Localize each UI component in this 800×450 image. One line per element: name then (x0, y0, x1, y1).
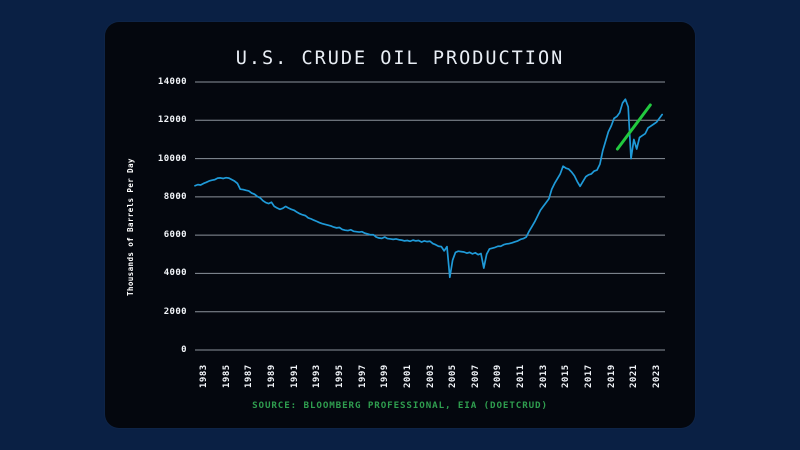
source-note: SOURCE: BLOOMBERG PROFESSIONAL, EIA (DOE… (105, 400, 695, 411)
y-axis-tick-label: 12000 (117, 115, 187, 125)
gridlines (195, 82, 665, 350)
screenshot-root: U.S. CRUDE OIL PRODUCTION 14000120001000… (0, 0, 800, 450)
x-axis-tick-label: 2003 (426, 364, 436, 388)
x-axis-tick-label: 2017 (584, 364, 594, 388)
x-axis-tick-label: 1985 (222, 364, 232, 388)
x-axis-tick-label: 1987 (244, 364, 254, 388)
x-axis-tick-label: 2001 (403, 364, 413, 388)
x-axis-tick-label: 2015 (561, 364, 571, 388)
chart-card: U.S. CRUDE OIL PRODUCTION 14000120001000… (105, 22, 695, 428)
x-axis-tick-label: 2009 (493, 364, 503, 388)
x-axis-tick-label: 1983 (199, 364, 209, 388)
x-axis-tick-label: 1999 (380, 364, 390, 388)
x-axis-tick-label: 1997 (358, 364, 368, 388)
x-axis-tick-label: 2021 (629, 364, 639, 388)
x-axis-tick-label: 2005 (448, 364, 458, 388)
x-axis-tick-label: 2013 (539, 364, 549, 388)
series-line (195, 99, 662, 277)
x-axis-tick-label: 2007 (471, 364, 481, 388)
x-axis-tick-label: 1989 (267, 364, 277, 388)
x-axis-tick-label: 1995 (335, 364, 345, 388)
y-axis-title: Thousands of Barrels Per Day (126, 158, 135, 296)
y-axis-tick-label: 0 (117, 345, 187, 355)
x-axis-tick-label: 2019 (607, 364, 617, 388)
series-lines (195, 99, 662, 277)
y-axis-tick-label: 2000 (117, 307, 187, 317)
x-axis-tick-label: 1993 (312, 364, 322, 388)
x-axis-tick-label: 2011 (516, 364, 526, 388)
x-axis-tick-label: 1991 (290, 364, 300, 388)
y-axis-tick-label: 14000 (117, 77, 187, 87)
x-axis-tick-label: 2023 (652, 364, 662, 388)
